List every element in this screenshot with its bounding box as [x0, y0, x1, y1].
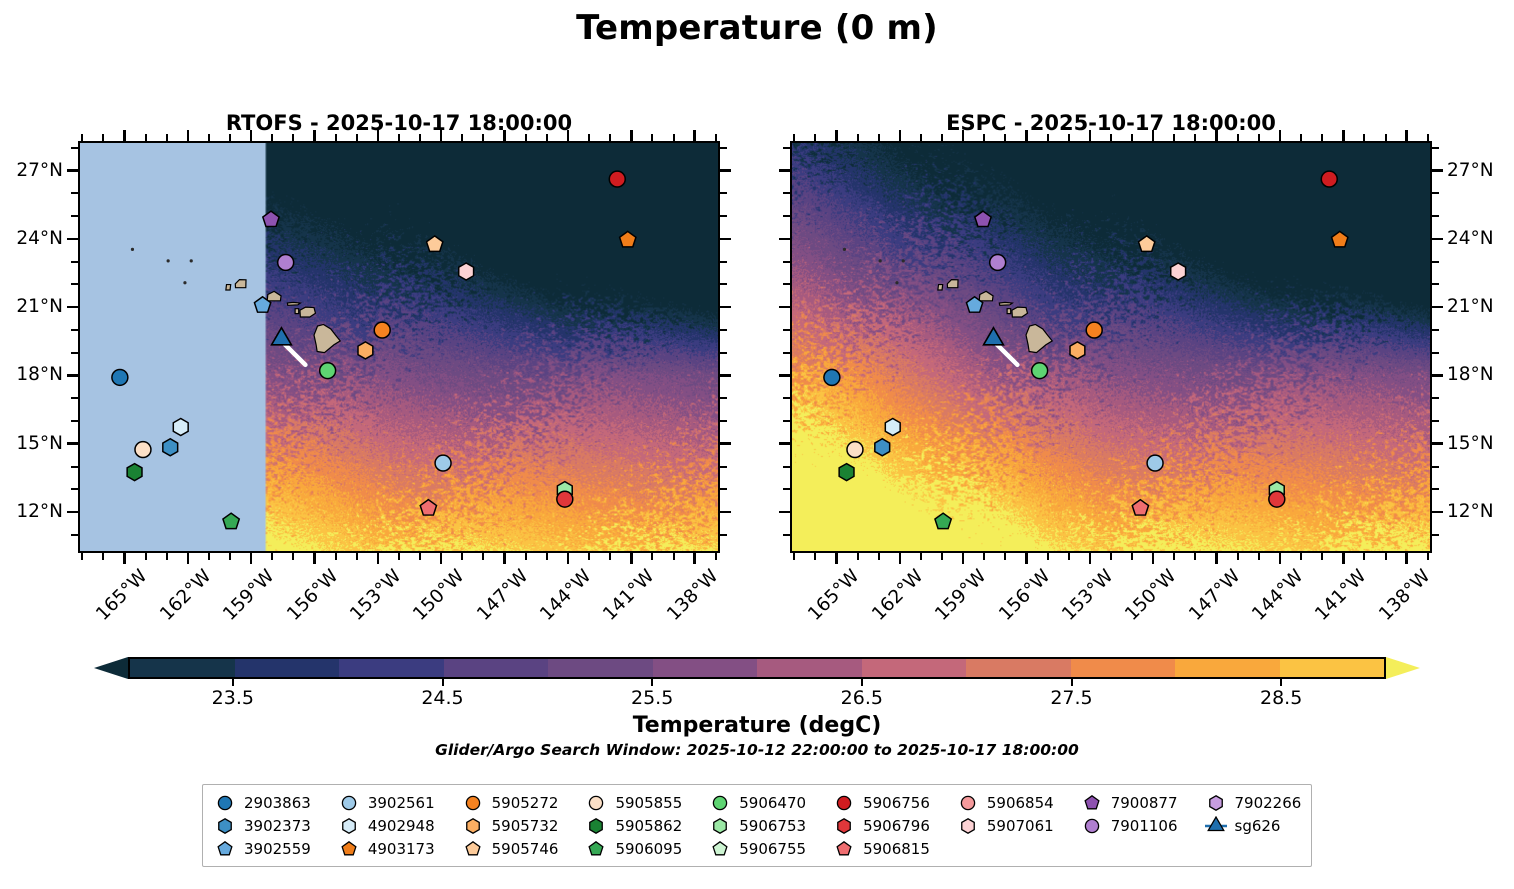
x-tick-minor	[651, 552, 653, 560]
colorbar-segment	[444, 659, 549, 677]
x-tick-major	[250, 552, 253, 564]
x-tick-minor-top	[208, 134, 210, 142]
legend-item-5905862[interactable]: 5905862	[584, 815, 682, 836]
y-tick-major-right	[719, 238, 731, 241]
marker-5906470[interactable]	[1032, 363, 1048, 379]
x-tick-minor	[1131, 552, 1133, 560]
x-tick-major-top	[962, 130, 965, 142]
colorbar-tick	[651, 679, 653, 686]
x-tick-major	[899, 552, 902, 564]
x-tick-major	[962, 552, 965, 564]
y-tick-major-right	[1431, 169, 1443, 172]
legend-label: 5906755	[739, 840, 806, 858]
x-tick-major-top	[1342, 130, 1345, 142]
x-tick-minor	[461, 552, 463, 560]
legend-marker-5905732	[461, 816, 485, 836]
colorbar-extend-min	[94, 657, 128, 679]
x-tick-major	[567, 552, 570, 564]
legend-item-5907061[interactable]: 5907061	[956, 815, 1054, 836]
legend-item-3902559[interactable]: 3902559	[213, 838, 311, 859]
x-tick-minor-top	[1131, 134, 1133, 142]
x-tick-minor-top	[793, 134, 795, 142]
marker-sg626[interactable]	[272, 328, 292, 345]
colorbar-segment	[339, 659, 444, 677]
legend-label: 3902373	[244, 817, 311, 835]
marker-5906095[interactable]	[223, 513, 239, 528]
y-tick-minor-left	[71, 215, 79, 217]
marker-3902373[interactable]	[875, 439, 890, 456]
x-tick-minor-top	[651, 134, 653, 142]
y-tick-label-right: 18°N	[1447, 366, 1494, 385]
x-tick-minor	[1068, 552, 1070, 560]
marker-5905855[interactable]	[847, 442, 863, 458]
x-tick-minor-top	[546, 134, 548, 142]
x-tick-minor	[1385, 552, 1387, 560]
y-tick-minor-right	[719, 261, 727, 263]
x-tick-minor-top	[983, 134, 985, 142]
x-tick-minor	[102, 552, 104, 560]
page-title: Temperature (0 m)	[0, 8, 1514, 48]
x-tick-minor	[588, 552, 590, 560]
marker-5905862[interactable]	[127, 464, 142, 481]
legend-grid: 2903863390256159052725905855590647059067…	[213, 792, 1301, 859]
marker-5907061[interactable]	[1171, 263, 1186, 280]
legend-label: 7902266	[1235, 794, 1302, 812]
legend-label: sg626	[1235, 817, 1281, 835]
x-tick-major	[1152, 552, 1155, 564]
panel-title-rtofs: RTOFS - 2025-10-17 18:00:00	[78, 111, 720, 135]
legend-marker-4902948	[337, 816, 361, 836]
x-tick-major-top	[503, 130, 506, 142]
legend-label: 3902559	[244, 840, 311, 858]
marker-5905862[interactable]	[839, 464, 854, 481]
x-tick-major-top	[630, 130, 633, 142]
y-tick-major-left	[67, 511, 79, 514]
x-tick-minor-top	[461, 134, 463, 142]
x-tick-minor	[81, 552, 83, 560]
marker-5906756[interactable]	[609, 171, 625, 187]
x-tick-minor	[941, 552, 943, 560]
marker-2903863[interactable]	[112, 370, 128, 386]
x-tick-minor	[208, 552, 210, 560]
marker-5905272[interactable]	[374, 322, 390, 338]
islet-dot	[902, 259, 905, 262]
marker-overlay-espc	[792, 143, 1430, 551]
legend-label: 4902948	[368, 817, 435, 835]
legend-label: 5906470	[739, 794, 806, 812]
colorbar-tick-label: 28.5	[1260, 687, 1302, 709]
x-tick-minor	[673, 552, 675, 560]
islet-dot	[895, 281, 898, 284]
y-tick-minor-left	[71, 488, 79, 490]
legend-label: 2903863	[244, 794, 311, 812]
y-tick-label-left: 27°N	[0, 161, 63, 180]
x-tick-minor	[1047, 552, 1049, 560]
marker-sg626[interactable]	[984, 328, 1004, 345]
legend-label: 5906756	[863, 794, 930, 812]
colorbar-tick-label: 23.5	[212, 687, 254, 709]
x-tick-minor	[166, 552, 168, 560]
y-tick-major-right	[1431, 511, 1443, 514]
x-tick-minor	[1258, 552, 1260, 560]
marker-4903173[interactable]	[620, 231, 636, 246]
colorbar-segment	[1071, 659, 1176, 677]
y-tick-minor-right	[1431, 466, 1439, 468]
legend-marker-5905746	[461, 839, 485, 859]
x-tick-major	[693, 552, 696, 564]
y-tick-minor-right	[719, 147, 727, 149]
y-tick-minor-left	[783, 192, 791, 194]
marker-5906756[interactable]	[1321, 171, 1337, 187]
y-tick-minor-left	[71, 192, 79, 194]
y-tick-minor-right	[1431, 147, 1439, 149]
legend-marker-5906796	[832, 816, 856, 836]
y-tick-minor-right	[719, 534, 727, 536]
y-tick-major-left	[779, 306, 791, 309]
x-tick-minor	[292, 552, 294, 560]
legend-label: 5905862	[615, 817, 682, 835]
legend-marker-5905862	[584, 816, 608, 836]
x-tick-major	[1405, 552, 1408, 564]
y-tick-minor-right	[719, 329, 727, 331]
x-tick-minor-top	[1068, 134, 1070, 142]
x-tick-major	[835, 552, 838, 564]
islet-dot	[167, 259, 170, 262]
marker-3902561[interactable]	[435, 455, 451, 471]
legend-item-5906854[interactable]: 5906854	[956, 792, 1054, 813]
legend-item-5906753[interactable]: 5906753	[708, 815, 806, 836]
x-tick-minor	[1427, 552, 1429, 560]
legend-item-4903173[interactable]: 4903173	[337, 838, 435, 859]
legend-label: 5906854	[987, 794, 1054, 812]
y-tick-minor-left	[71, 329, 79, 331]
y-tick-label-left: 12°N	[0, 503, 63, 522]
glider-track-sg626	[284, 344, 305, 365]
y-tick-major-left	[779, 511, 791, 514]
colorbar[interactable]	[128, 657, 1386, 679]
y-tick-label-left: 21°N	[0, 298, 63, 317]
x-tick-major	[1089, 552, 1092, 564]
y-tick-minor-left	[783, 352, 791, 354]
island-polygon	[938, 285, 943, 290]
marker-5905272[interactable]	[1086, 322, 1102, 338]
x-tick-minor-top	[356, 134, 358, 142]
y-tick-major-left	[67, 374, 79, 377]
x-tick-minor-top	[588, 134, 590, 142]
y-tick-minor-left	[783, 147, 791, 149]
x-tick-minor-top	[1321, 134, 1323, 142]
y-tick-major-right	[1431, 238, 1443, 241]
x-tick-minor	[1004, 552, 1006, 560]
y-tick-minor-right	[1431, 215, 1439, 217]
colorbar-segment	[966, 659, 1071, 677]
x-tick-major	[630, 552, 633, 564]
legend-marker-3902559	[213, 839, 237, 859]
marker-5905732[interactable]	[1070, 342, 1085, 359]
x-tick-minor-top	[1237, 134, 1239, 142]
x-tick-minor	[271, 552, 273, 560]
y-tick-minor-left	[783, 466, 791, 468]
x-tick-major	[440, 552, 443, 564]
y-tick-major-right	[719, 374, 731, 377]
y-tick-minor-right	[1431, 261, 1439, 263]
y-tick-label-left: 24°N	[0, 230, 63, 249]
colorbar-tick	[861, 679, 863, 686]
legend-marker-5905272	[461, 793, 485, 813]
marker-5905746[interactable]	[1139, 236, 1155, 251]
legend-marker-7900877	[1080, 793, 1104, 813]
map-frame-rtofs[interactable]	[78, 141, 720, 553]
island-polygon	[226, 285, 231, 290]
marker-7900877[interactable]	[975, 211, 991, 226]
x-tick-minor-top	[229, 134, 231, 142]
legend-item-7900877[interactable]: 7900877	[1080, 792, 1178, 813]
islet-dot	[131, 248, 134, 251]
x-tick-major-top	[187, 130, 190, 142]
y-tick-major-left	[779, 169, 791, 172]
x-tick-minor	[229, 552, 231, 560]
map-panel-espc: ESPC - 2025-10-17 18:00:00	[790, 141, 1432, 553]
legend-marker-5906753	[708, 816, 732, 836]
x-tick-major	[313, 552, 316, 564]
x-tick-major-top	[1025, 130, 1028, 142]
legend-item-5905746[interactable]: 5905746	[461, 838, 559, 859]
x-tick-minor	[1237, 552, 1239, 560]
x-tick-minor	[398, 552, 400, 560]
y-tick-major-right	[719, 511, 731, 514]
panel-title-espc: ESPC - 2025-10-17 18:00:00	[790, 111, 1432, 135]
legend-marker-5906755	[708, 839, 732, 859]
x-tick-minor-top	[1300, 134, 1302, 142]
y-tick-minor-left	[783, 420, 791, 422]
x-tick-major-top	[123, 130, 126, 142]
legend-item-5906796[interactable]: 5906796	[832, 815, 930, 836]
colorbar-tick	[1280, 679, 1282, 686]
island-polygon	[235, 280, 246, 288]
legend-marker-5906095	[584, 839, 608, 859]
legend-marker-2903863	[213, 793, 237, 813]
legend-item-7901106[interactable]: 7901106	[1080, 815, 1178, 836]
x-tick-minor	[525, 552, 527, 560]
y-tick-minor-left	[71, 261, 79, 263]
x-tick-minor-top	[1004, 134, 1006, 142]
y-tick-minor-right	[1431, 329, 1439, 331]
x-tick-minor-top	[145, 134, 147, 142]
legend-label: 7900877	[1111, 794, 1178, 812]
marker-4902948[interactable]	[173, 419, 188, 436]
y-tick-minor-left	[783, 261, 791, 263]
x-tick-minor-top	[335, 134, 337, 142]
x-tick-major-top	[1089, 130, 1092, 142]
legend-item-5906756[interactable]: 5906756	[832, 792, 930, 813]
island-polygon	[1012, 307, 1028, 317]
legend-marker-5906756	[832, 793, 856, 813]
marker-5906815[interactable]	[420, 500, 436, 515]
x-tick-minor-top	[814, 134, 816, 142]
x-tick-minor-top	[292, 134, 294, 142]
colorbar-segment	[1280, 659, 1385, 677]
y-tick-minor-left	[783, 488, 791, 490]
y-tick-minor-left	[71, 534, 79, 536]
island-polygon	[947, 280, 958, 288]
y-tick-major-right	[719, 306, 731, 309]
legend-item-5906755[interactable]: 5906755	[708, 838, 806, 859]
legend-item-3902373[interactable]: 3902373	[213, 815, 311, 836]
x-tick-minor	[1173, 552, 1175, 560]
x-tick-major-top	[377, 130, 380, 142]
colorbar-tick	[442, 679, 444, 686]
y-tick-minor-right	[1431, 534, 1439, 536]
legend-item-5905732[interactable]: 5905732	[461, 815, 559, 836]
y-tick-minor-right	[1431, 397, 1439, 399]
legend-label: 3902561	[368, 794, 435, 812]
x-tick-minor-top	[1047, 134, 1049, 142]
y-tick-minor-right	[1431, 488, 1439, 490]
y-tick-minor-right	[719, 488, 727, 490]
marker-5906796[interactable]	[1269, 491, 1285, 507]
y-tick-major-left	[779, 238, 791, 241]
marker-2903863[interactable]	[824, 370, 840, 386]
legend-marker-3902561	[337, 793, 361, 813]
x-tick-minor-top	[1173, 134, 1175, 142]
x-tick-minor-top	[1385, 134, 1387, 142]
y-tick-minor-left	[783, 534, 791, 536]
y-tick-minor-left	[783, 397, 791, 399]
x-tick-major-top	[693, 130, 696, 142]
legend-label: 5906753	[739, 817, 806, 835]
x-tick-minor-top	[673, 134, 675, 142]
colorbar-title: Temperature (degC)	[0, 713, 1514, 738]
x-tick-minor-top	[419, 134, 421, 142]
x-tick-minor	[715, 552, 717, 560]
legend-label: 5905855	[615, 794, 682, 812]
marker-5905855[interactable]	[135, 442, 151, 458]
legend-marker-7901106	[1080, 816, 1104, 836]
island-polygon	[999, 302, 1012, 305]
legend-item-7902266[interactable]: 7902266	[1204, 792, 1302, 813]
x-tick-major-top	[1405, 130, 1408, 142]
y-tick-minor-left	[71, 397, 79, 399]
x-tick-major	[123, 552, 126, 564]
x-tick-major-top	[835, 130, 838, 142]
y-tick-minor-left	[71, 147, 79, 149]
legend-label: 4903173	[368, 840, 435, 858]
marker-4903173[interactable]	[1332, 231, 1348, 246]
marker-5906815[interactable]	[1132, 500, 1148, 515]
colorbar-segment	[757, 659, 862, 677]
x-tick-minor	[793, 552, 795, 560]
x-tick-major	[1279, 552, 1282, 564]
legend-label: 5906815	[863, 840, 930, 858]
marker-3902373[interactable]	[163, 439, 178, 456]
legend-item-sg626[interactable]: sg626	[1204, 815, 1302, 836]
x-tick-minor-top	[102, 134, 104, 142]
x-tick-minor-top	[1194, 134, 1196, 142]
legend-label: 5906796	[863, 817, 930, 835]
colorbar-segment	[1175, 659, 1280, 677]
legend-item-5905855[interactable]: 5905855	[584, 792, 682, 813]
legend-item-5905272[interactable]: 5905272	[461, 792, 559, 813]
x-tick-major-top	[250, 130, 253, 142]
x-tick-minor-top	[166, 134, 168, 142]
x-tick-minor-top	[1427, 134, 1429, 142]
x-tick-major-top	[1215, 130, 1218, 142]
x-tick-minor-top	[878, 134, 880, 142]
x-tick-major	[1342, 552, 1345, 564]
marker-legend[interactable]: 2903863390256159052725905855590647059067…	[202, 784, 1312, 867]
y-tick-minor-right	[719, 215, 727, 217]
x-tick-major-top	[567, 130, 570, 142]
marker-7901106[interactable]	[990, 255, 1006, 271]
marker-5906470[interactable]	[320, 363, 336, 379]
y-tick-minor-right	[719, 420, 727, 422]
x-tick-minor-top	[81, 134, 83, 142]
legend-label: 5905746	[492, 840, 559, 858]
search-window-subtitle: Glider/Argo Search Window: 2025-10-12 22…	[0, 741, 1514, 759]
colorbar-segment	[235, 659, 340, 677]
x-tick-minor-top	[1258, 134, 1260, 142]
legend-item-3902561[interactable]: 3902561	[337, 792, 435, 813]
x-tick-minor-top	[482, 134, 484, 142]
legend-item-4902948[interactable]: 4902948	[337, 815, 435, 836]
y-tick-minor-left	[783, 215, 791, 217]
x-tick-major	[187, 552, 190, 564]
marker-5905732[interactable]	[358, 342, 373, 359]
y-tick-major-right	[719, 169, 731, 172]
x-tick-minor	[1300, 552, 1302, 560]
colorbar-gradient	[128, 657, 1386, 679]
island-polygon	[267, 291, 281, 300]
y-tick-minor-right	[1431, 352, 1439, 354]
map-panel-rtofs: RTOFS - 2025-10-17 18:00:00	[78, 141, 720, 553]
y-tick-major-left	[67, 306, 79, 309]
islet-dot	[879, 259, 882, 262]
islet-dot	[183, 281, 186, 284]
y-tick-major-left	[67, 169, 79, 172]
marker-4902948[interactable]	[885, 419, 900, 436]
marker-7901106[interactable]	[278, 255, 294, 271]
y-tick-major-left	[779, 442, 791, 445]
x-tick-minor	[1110, 552, 1112, 560]
x-tick-minor	[1363, 552, 1365, 560]
legend-item-5906815[interactable]: 5906815	[832, 838, 930, 859]
map-frame-espc[interactable]	[790, 141, 1432, 553]
marker-5907061[interactable]	[459, 263, 474, 280]
y-tick-minor-right	[719, 466, 727, 468]
legend-item-5906095[interactable]: 5906095	[584, 838, 682, 859]
legend-item-5906470[interactable]: 5906470	[708, 792, 806, 813]
legend-marker-3902373	[213, 816, 237, 836]
y-tick-major-right	[1431, 374, 1443, 377]
island-polygon	[287, 302, 300, 305]
marker-5906095[interactable]	[935, 513, 951, 528]
x-tick-minor-top	[525, 134, 527, 142]
x-tick-minor-top	[857, 134, 859, 142]
marker-7900877[interactable]	[263, 211, 279, 226]
islet-dot	[843, 248, 846, 251]
y-tick-label-right: 27°N	[1447, 161, 1494, 180]
colorbar-segment	[653, 659, 758, 677]
marker-3902561[interactable]	[1147, 455, 1163, 471]
marker-5905746[interactable]	[427, 236, 443, 251]
legend-item-2903863[interactable]: 2903863	[213, 792, 311, 813]
island-polygon	[295, 309, 299, 314]
legend-label: 5907061	[987, 817, 1054, 835]
marker-5906796[interactable]	[557, 491, 573, 507]
legend-marker-5905855	[584, 793, 608, 813]
x-tick-major-top	[440, 130, 443, 142]
y-tick-label-right: 12°N	[1447, 503, 1494, 522]
